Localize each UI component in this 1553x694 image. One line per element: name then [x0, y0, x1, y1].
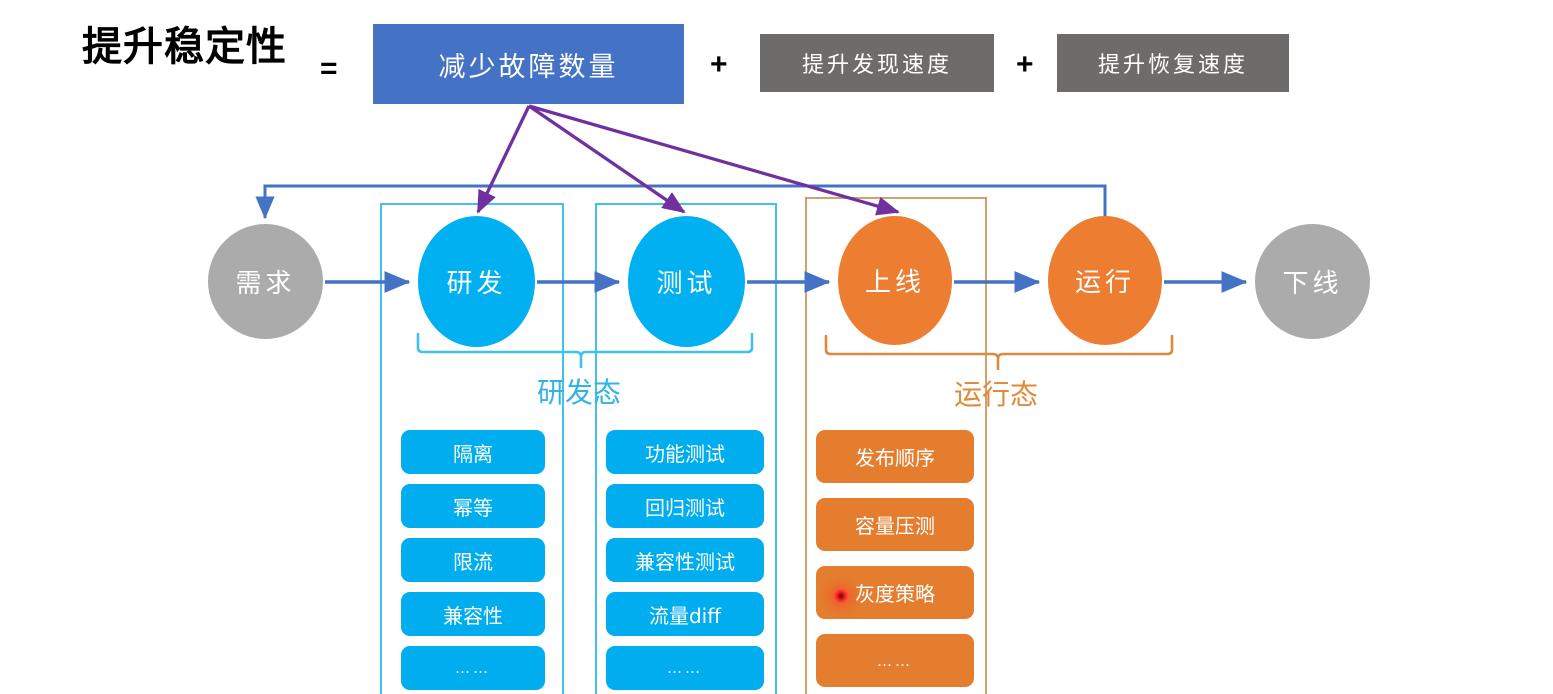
- term-faster-detection[interactable]: 提升发现速度: [760, 34, 994, 92]
- practice-column-runtime: 发布顺序 容量压测 灰度策略 ……: [816, 430, 974, 694]
- lifecycle-node-running[interactable]: 运行: [1048, 216, 1162, 345]
- slide-canvas: 提升稳定性 = 减少故障数量 + 提升发现速度 + 提升恢复速度 需求 研发 测…: [0, 0, 1553, 694]
- practice-pill[interactable]: 容量压测: [816, 498, 974, 551]
- term-reduce-incidents[interactable]: 减少故障数量: [373, 24, 684, 104]
- practice-column-testing: 功能测试 回归测试 兼容性测试 流量diff ……: [606, 430, 764, 694]
- practice-pill[interactable]: 功能测试: [606, 430, 764, 474]
- plus-sign-1: +: [710, 50, 728, 80]
- lifecycle-node-offline[interactable]: 下线: [1255, 224, 1370, 339]
- ellipsis-label: ……: [667, 659, 703, 677]
- practice-pill[interactable]: 回归测试: [606, 484, 764, 528]
- lifecycle-node-development[interactable]: 研发: [418, 216, 535, 347]
- equals-sign: =: [320, 54, 338, 84]
- emphasis-arrows: [478, 106, 898, 212]
- lifecycle-node-launch[interactable]: 上线: [838, 216, 952, 345]
- lifecycle-node-testing[interactable]: 测试: [628, 216, 745, 347]
- connector-layer: [0, 0, 1553, 694]
- plus-sign-2: +: [1016, 50, 1034, 80]
- practice-pill[interactable]: 隔离: [401, 430, 545, 474]
- practice-pill-more[interactable]: ……: [606, 646, 764, 690]
- practice-pill-more[interactable]: ……: [816, 634, 974, 687]
- lifecycle-node-requirement[interactable]: 需求: [208, 224, 323, 339]
- phase-label-runtime: 运行态: [954, 381, 1038, 409]
- practice-pill[interactable]: 流量diff: [606, 592, 764, 636]
- feedback-loop-arrow: [265, 186, 1105, 218]
- phase-label-development: 研发态: [537, 379, 621, 407]
- ellipsis-label: ……: [455, 659, 491, 677]
- practice-pill[interactable]: 幂等: [401, 484, 545, 528]
- ellipsis-label: ……: [877, 652, 913, 670]
- practice-pill[interactable]: 发布顺序: [816, 430, 974, 483]
- term-faster-recovery[interactable]: 提升恢复速度: [1057, 34, 1289, 92]
- practice-pill[interactable]: 限流: [401, 538, 545, 582]
- practice-pill[interactable]: 兼容性: [401, 592, 545, 636]
- practice-column-development: 隔离 幂等 限流 兼容性 ……: [401, 430, 545, 694]
- slide-title: 提升稳定性: [82, 27, 287, 67]
- practice-pill-more[interactable]: ……: [401, 646, 545, 690]
- practice-pill[interactable]: 兼容性测试: [606, 538, 764, 582]
- laser-pointer-dot-icon: [833, 588, 849, 604]
